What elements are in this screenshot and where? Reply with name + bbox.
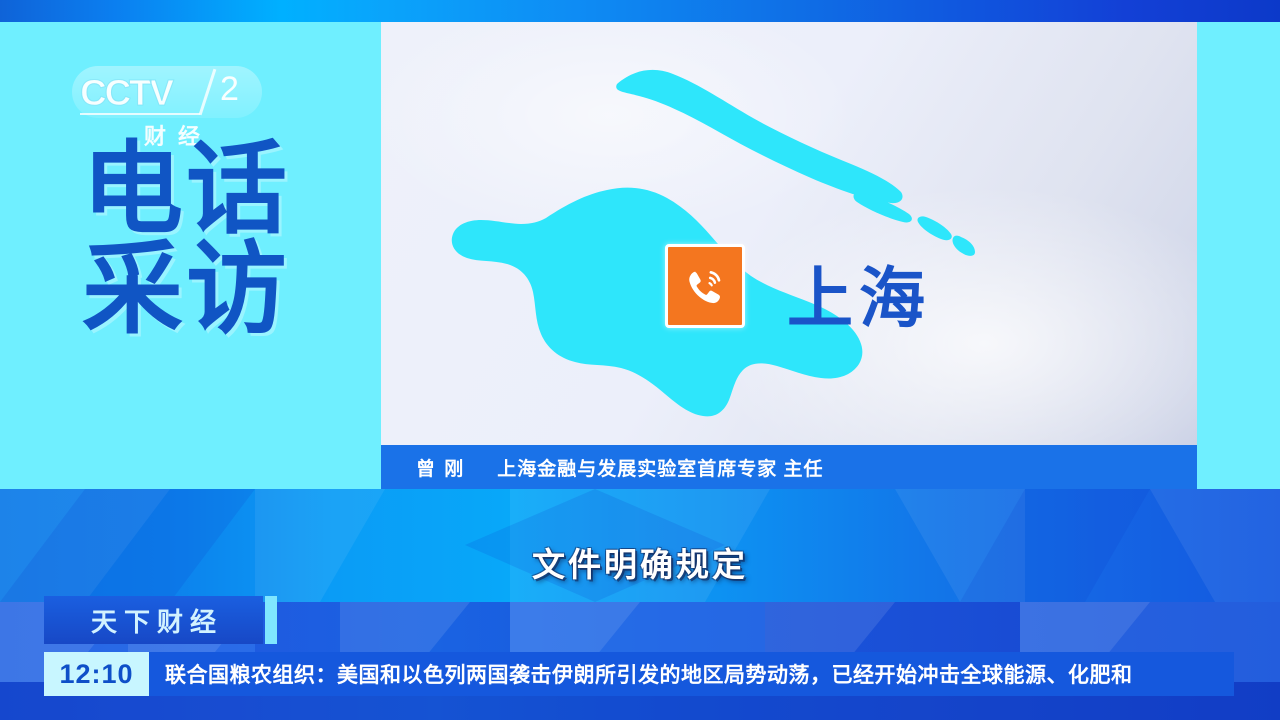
broadcast-screen: CCTV 2 财经 电话 采访	[0, 0, 1280, 720]
program-name-tag: 天下财经	[44, 596, 263, 644]
map-panel: 上海	[381, 22, 1197, 445]
headline-line-1: 电话	[82, 140, 352, 240]
guest-name: 曾 刚	[416, 454, 465, 481]
subtitle-text: 文件明确规定	[0, 538, 1280, 586]
left-cyan-panel: CCTV 2 财经 电话 采访	[0, 22, 381, 489]
shanghai-map-shape	[381, 22, 1197, 445]
phone-call-icon	[665, 244, 745, 328]
ticker-body: 联合国粮农组织：美国和以色列两国袭击伊朗所引发的地区局势动荡，已经开始冲击全球能…	[149, 652, 1234, 696]
top-gradient-strip	[0, 0, 1280, 22]
program-name-label: 天下财经	[84, 602, 223, 639]
lower-third-name-bar: 曾 刚 上海金融与发展实验室首席专家 主任	[381, 445, 1197, 489]
right-cyan-panel	[1197, 22, 1280, 489]
logo-cctv-text: CCTV	[80, 72, 172, 114]
clock-time: 12:10	[44, 652, 149, 696]
ticker-headline-text: 联合国粮农组织：美国和以色列两国袭击伊朗所引发的地区局势动荡，已经开始冲击全球能…	[149, 659, 1133, 689]
logo-underline	[80, 113, 200, 115]
headline-line-2: 采访	[82, 240, 352, 340]
logo-channel-number: 2	[220, 70, 239, 109]
page-title: 电话 采访	[82, 140, 352, 340]
news-ticker: 12:10 联合国粮农组织：美国和以色列两国袭击伊朗所引发的地区局势动荡，已经开…	[44, 652, 1234, 696]
guest-title: 上海金融与发展实验室首席专家 主任	[497, 454, 823, 481]
city-label: 上海	[787, 265, 931, 331]
program-tag-accent-bar	[265, 596, 277, 644]
phone-handset-glyph	[680, 261, 730, 311]
